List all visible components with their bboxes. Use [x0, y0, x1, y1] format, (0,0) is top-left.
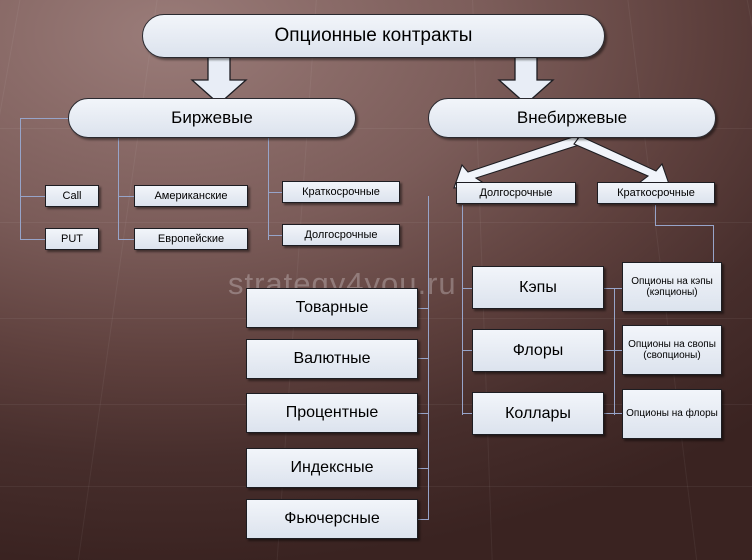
node-label: Процентные — [286, 404, 379, 422]
connector-line — [713, 225, 714, 263]
node-otc-long-term[interactable]: Долгосрочные — [456, 182, 576, 204]
node-label: Опционы на кэпы (кэпционы) — [626, 276, 718, 298]
node-exchange-traded[interactable]: Биржевые — [68, 98, 356, 138]
node-label: Флоры — [513, 342, 563, 360]
node-label: Товарные — [296, 299, 369, 317]
node-otc-short-term[interactable]: Краткосрочные — [597, 182, 715, 204]
node-currency[interactable]: Валютные — [246, 339, 418, 379]
node-floor-options[interactable]: Опционы на флоры — [622, 389, 722, 439]
connector-line — [268, 235, 282, 236]
connector-line — [604, 413, 624, 414]
node-label: Кэпы — [519, 279, 557, 297]
node-label: Опционные контракты — [275, 25, 473, 46]
background-guide-line — [45, 0, 166, 560]
connector-line — [118, 136, 119, 240]
node-label: Европейские — [158, 233, 224, 245]
node-label: Долгосрочные — [479, 187, 552, 199]
node-exchange-long-term[interactable]: Долгосрочные — [282, 224, 400, 246]
node-label: Краткосрочные — [302, 186, 380, 198]
node-label: Опционы на свопы (свопционы) — [626, 339, 718, 361]
connector-line — [418, 308, 428, 309]
connector-line — [462, 350, 472, 351]
node-call[interactable]: Call — [45, 185, 99, 207]
node-collars[interactable]: Коллары — [472, 392, 604, 435]
node-floors[interactable]: Флоры — [472, 329, 604, 372]
node-captions[interactable]: Опционы на кэпы (кэпционы) — [622, 262, 722, 312]
node-label: Опционы на флоры — [626, 408, 718, 419]
node-interest-rate[interactable]: Процентные — [246, 393, 418, 433]
node-american[interactable]: Американские — [134, 185, 248, 207]
node-label: Краткосрочные — [617, 187, 695, 199]
connector-line — [268, 192, 282, 193]
connector-line — [655, 205, 656, 225]
connector-line — [418, 519, 428, 520]
connector-line — [118, 196, 135, 197]
connector-line — [20, 196, 46, 197]
background-guide-line — [735, 0, 752, 560]
connector-line — [604, 350, 624, 351]
connector-line — [655, 225, 713, 226]
connector-line — [418, 358, 428, 359]
connector-line — [604, 288, 624, 289]
node-exchange-short-term[interactable]: Краткосрочные — [282, 181, 400, 203]
connector-line — [20, 239, 46, 240]
connector-line — [614, 288, 615, 415]
node-commodity[interactable]: Товарные — [246, 288, 418, 328]
node-futures[interactable]: Фьючерсные — [246, 499, 418, 539]
node-label: Коллары — [505, 405, 571, 423]
connector-line — [462, 205, 463, 415]
node-european[interactable]: Европейские — [134, 228, 248, 250]
connector-line — [20, 118, 21, 240]
node-label: Валютные — [293, 350, 370, 368]
connector-line — [462, 288, 472, 289]
node-index[interactable]: Индексные — [246, 448, 418, 488]
node-label: Американские — [154, 190, 227, 202]
background-guide-line — [0, 0, 31, 560]
node-option-contracts[interactable]: Опционные контракты — [142, 14, 605, 58]
node-swaptions[interactable]: Опционы на свопы (свопционы) — [622, 325, 722, 375]
connector-line — [118, 239, 135, 240]
connector-line — [428, 196, 429, 520]
node-put[interactable]: PUT — [45, 228, 99, 250]
connector-line — [462, 413, 472, 414]
diagram-canvas: strategy4you.ru Опционные контра — [0, 0, 752, 560]
connector-line — [418, 413, 428, 414]
node-label: Биржевые — [171, 108, 253, 127]
background-guide-line — [0, 222, 752, 223]
node-label: PUT — [61, 233, 83, 245]
node-otc[interactable]: Внебиржевые — [428, 98, 716, 138]
node-label: Call — [63, 190, 82, 202]
node-label: Фьючерсные — [284, 510, 380, 528]
node-caps[interactable]: Кэпы — [472, 266, 604, 309]
connector-line — [268, 136, 269, 240]
node-label: Индексные — [291, 459, 374, 477]
node-label: Долгосрочные — [304, 229, 377, 241]
node-label: Внебиржевые — [517, 108, 627, 127]
connector-line — [418, 468, 428, 469]
